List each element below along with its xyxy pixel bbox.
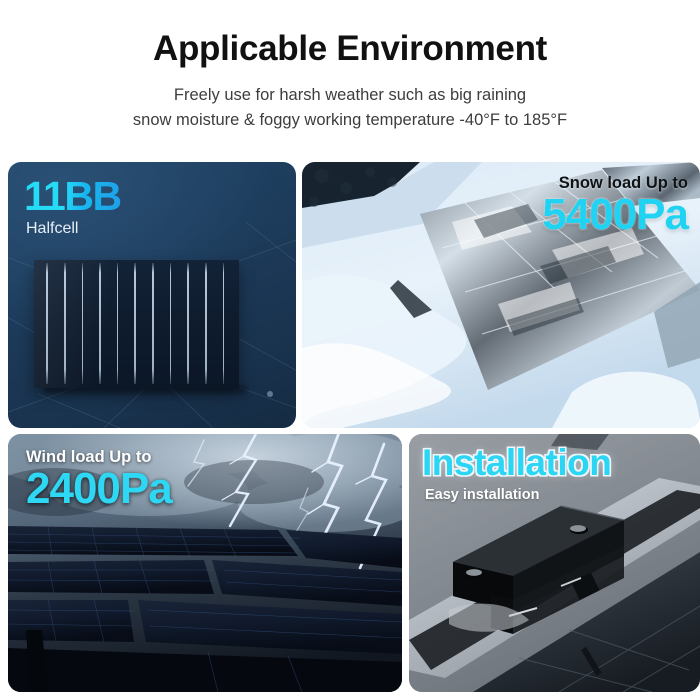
wind-text-block: Wind load Up to 2400Pa [26,448,172,511]
solar-cell-image [34,260,239,388]
installation-text-block: Installation Easy installation [422,444,611,503]
panel-snow-load[interactable]: Snow load Up to 5400Pa [302,162,700,428]
page-subtitle-line-2: snow moisture & foggy working temperatur… [0,108,700,134]
installation-subtitle: Easy installation [425,487,611,503]
cell-gloss [34,260,239,388]
panel-halfcell[interactable]: 11BB Halfcell [8,162,296,428]
feature-panel-grid: 11BB Halfcell [0,162,700,696]
installation-title: Installation [422,444,611,481]
page-title: Applicable Environment [0,30,700,69]
page-subtitle-line-1: Freely use for harsh weather such as big… [0,83,700,109]
snow-text-block: Snow load Up to 5400Pa [542,174,688,237]
halfcell-text-block: 11BB Halfcell [24,176,121,238]
panel-wind-load[interactable]: Wind load Up to 2400Pa [8,434,402,692]
snow-load-value: 5400Pa [542,193,688,237]
halfcell-badge-label: Halfcell [26,220,121,238]
wind-load-value: 2400Pa [26,467,172,511]
page-header: Applicable Environment Freely use for ha… [0,0,700,134]
panel-installation[interactable]: Installation Easy installation [409,434,700,692]
cell-body [34,260,239,388]
halfcell-badge-value: 11BB [24,176,121,217]
